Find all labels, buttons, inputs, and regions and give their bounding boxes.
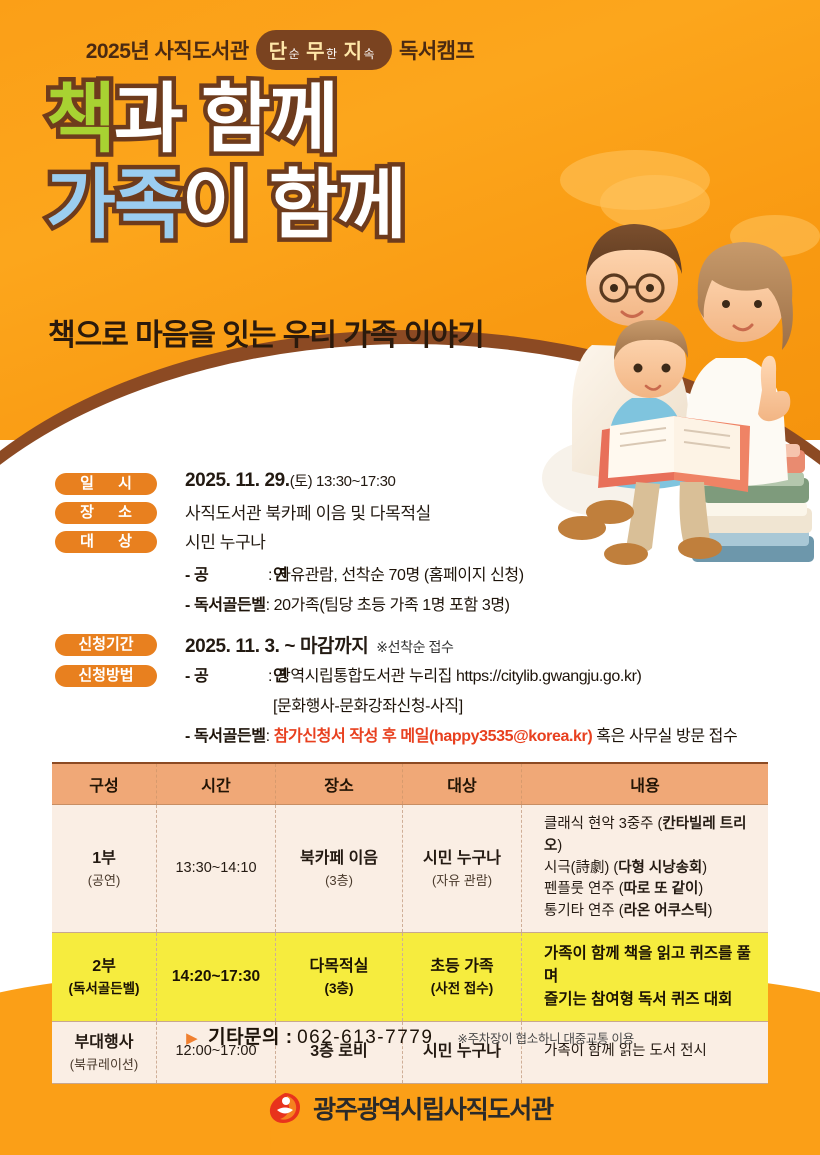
contact-label: 기타문의 : [208, 1027, 293, 1048]
kicker-line: 2025년 사직도서관 단순 무한 지속 독서캠프 [0, 30, 560, 70]
content-line: 펜플룻 연주 (따로 또 같이) [544, 879, 762, 901]
kicker-suffix: 독서캠프 [399, 35, 474, 65]
subline-text-goldenbell: : 20가족(팀당 초등 가족 1명 포함 3명) [266, 597, 510, 614]
library-logo: 광주광역시립사직도서관 [0, 1090, 820, 1126]
cell-time: 14:20~17:30 [157, 932, 276, 1021]
col-header-section: 구성 [52, 763, 157, 805]
badge-sub-2: 한 [326, 45, 337, 62]
info-value-date: 2025. 11. 29.(토) 13:30~17:30 [185, 470, 395, 492]
target-sublines: - 공 연: 자유관람, 선착순 70명 (홈페이지 신청) - 독서골든벨: … [185, 561, 775, 615]
apply-method-line-goldenbell: - 독서골든벨: 참가신청서 작성 후 메일(happy3535@korea.k… [185, 722, 737, 746]
date-bold: 2025. 11. 29. [185, 470, 290, 491]
apply-method-label-goldenbell: 독서골든벨 [194, 722, 266, 746]
campaign-badge: 단순 무한 지속 [256, 30, 392, 70]
content-line: 클래식 현악 3중주 (칸타빌레 트리오) [544, 814, 762, 858]
contact-group: ▶ 기타문의 : 062-613-7779 [186, 1022, 433, 1049]
cell-target: 초등 가족(사전 접수) [403, 932, 522, 1021]
info-value-apply-period: 2025. 11. 3. ~ 마감까지※선착순 접수 [185, 631, 454, 658]
table-row: 2부(독서골든벨)14:20~17:30다목적실(3층)초등 가족(사전 접수)… [52, 932, 768, 1021]
target-subline-goldenbell: - 독서골든벨: 20가족(팀당 초등 가족 1명 포함 3명) [185, 591, 775, 615]
apply-method-tail: 혹은 사무실 방문 접수 [592, 728, 737, 745]
info-label-place: 장 소 [55, 502, 157, 524]
event-info-block: 일 시 2025. 11. 29.(토) 13:30~17:30 장 소 사직도… [55, 470, 775, 756]
info-value-target: 시민 누구나 [185, 528, 266, 553]
cell-place: 다목적실(3층) [276, 932, 403, 1021]
title-rest-2: 이 함께 [182, 163, 405, 248]
table-header-row: 구성 시간 장소 대상 내용 [52, 763, 768, 805]
contact-line: ▶ 기타문의 : 062-613-7779 ※주차장이 협소하니 대중교통 이용 [0, 1022, 820, 1049]
badge-char-3: 지 [344, 35, 362, 64]
apply-method-label-performance: 공 연 [194, 662, 268, 686]
apply-method-line-path: [문화행사-문화강좌신청-사직] [273, 692, 737, 716]
info-label-target: 대 상 [55, 531, 157, 553]
apply-method-line-performance: - 공 연: 광역시립통합도서관 누리집 https://citylib.gwa… [185, 662, 737, 686]
title-line-2: 가족이 함께 [46, 170, 405, 242]
info-row-apply-method: 신청방법 - 공 연: 광역시립통합도서관 누리집 https://cityli… [55, 662, 775, 752]
content-line: 시극(詩劇) (다형 시낭송회) [544, 858, 762, 880]
table-row: 1부(공연)13:30~14:10북카페 이음(3층)시민 누구나(자유 관람)… [52, 805, 768, 933]
poster-subtitle: 책으로 마음을 잇는 우리 가족 이야기 [48, 310, 484, 354]
apply-method-email-highlight: 참가신청서 작성 후 메일(happy3535@korea.kr) [274, 728, 593, 745]
cell-target: 시민 누구나(자유 관람) [403, 805, 522, 933]
cell-section: 2부(독서골든벨) [52, 932, 157, 1021]
cell-section: 1부(공연) [52, 805, 157, 933]
apply-method-colon: : [266, 728, 274, 745]
subline-text-performance: : 자유관람, 선착순 70명 (홈페이지 신청) [268, 567, 524, 584]
info-row-place: 장 소 사직도서관 북카페 이음 및 다목적실 [55, 499, 775, 524]
cell-content: 가족이 함께 책을 읽고 퀴즈를 풀며즐기는 참여형 독서 퀴즈 대회 [522, 932, 769, 1021]
poster-root: 2025년 사직도서관 단순 무한 지속 독서캠프 책과 함께 가족이 함께 책… [0, 0, 820, 1155]
col-header-target: 대상 [403, 763, 522, 805]
apply-period-value: 2025. 11. 3. ~ 마감까지 [185, 636, 368, 657]
content-line: 즐기는 참여형 독서 퀴즈 대회 [544, 988, 762, 1011]
subline-label-goldenbell: 독서골든벨 [194, 591, 266, 615]
parking-note: ※주차장이 협소하니 대중교통 이용 [457, 1028, 634, 1047]
apply-period-note: ※선착순 접수 [376, 639, 453, 655]
content-line: 통기타 연주 (라온 어쿠스틱) [544, 901, 762, 923]
poster-title: 책과 함께 가족이 함께 [46, 84, 405, 244]
col-header-time: 시간 [157, 763, 276, 805]
apply-method-text-performance: : 광역시립통합도서관 누리집 https://citylib.gwangju.… [268, 668, 641, 685]
title-accent-2: 가족 [46, 163, 182, 248]
subline-label-performance: 공 연 [194, 561, 268, 585]
target-subline-performance: - 공 연: 자유관람, 선착순 70명 (홈페이지 신청) [185, 561, 775, 585]
kicker-prefix: 2025년 사직도서관 [86, 35, 249, 65]
title-line-1: 책과 함께 [46, 84, 405, 156]
cell-content: 클래식 현악 3중주 (칸타빌레 트리오)시극(詩劇) (다형 시낭송회)펜플룻… [522, 805, 769, 933]
content-line: 가족이 함께 책을 읽고 퀴즈를 풀며 [544, 942, 762, 989]
info-row-date: 일 시 2025. 11. 29.(토) 13:30~17:30 [55, 470, 775, 495]
badge-sub-1: 순 [289, 45, 300, 62]
gwangju-city-emblem-icon [267, 1090, 303, 1126]
date-rest: (토) 13:30~17:30 [290, 473, 396, 490]
info-label-apply-method: 신청방법 [55, 665, 157, 687]
cell-time: 13:30~14:10 [157, 805, 276, 933]
contact-phone-number: 062-613-7779 [297, 1027, 433, 1048]
badge-sub-3: 속 [363, 45, 374, 62]
col-header-place: 장소 [276, 763, 403, 805]
info-label-date: 일 시 [55, 473, 157, 495]
cell-place: 북카페 이음(3층) [276, 805, 403, 933]
title-rest-1: 과 함께 [114, 77, 337, 162]
triangle-bullet-icon: ▶ [186, 1030, 198, 1047]
info-row-target: 대 상 시민 누구나 [55, 528, 775, 553]
info-value-place: 사직도서관 북카페 이음 및 다목적실 [185, 499, 431, 524]
badge-char-1: 단 [269, 35, 287, 64]
title-accent-1: 책 [46, 77, 114, 162]
badge-char-2: 무 [306, 35, 324, 64]
library-logo-text: 광주광역시립사직도서관 [313, 1090, 553, 1126]
col-header-content: 내용 [522, 763, 769, 805]
info-label-apply-period: 신청기간 [55, 634, 157, 656]
info-row-apply-period: 신청기간 2025. 11. 3. ~ 마감까지※선착순 접수 [55, 631, 775, 658]
